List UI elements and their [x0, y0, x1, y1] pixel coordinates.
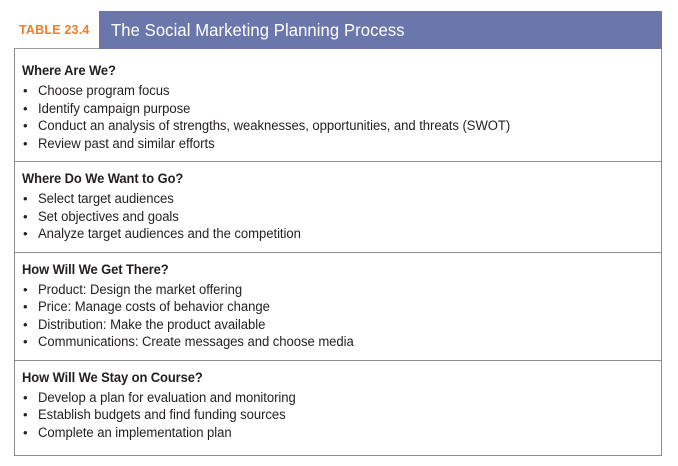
list-item: • Select target audiences: [22, 190, 661, 208]
bullet-list: • Select target audiences • Set objectiv…: [15, 190, 661, 243]
list-item: • Conduct an analysis of strengths, weak…: [22, 117, 661, 135]
table-section: How Will We Stay on Course? • Develop a …: [15, 360, 661, 456]
bullet-icon: •: [22, 208, 38, 226]
list-item-text: Conduct an analysis of strengths, weakne…: [38, 117, 510, 135]
list-item-text: Establish budgets and find funding sourc…: [38, 406, 286, 424]
section-heading: How Will We Get There?: [22, 262, 635, 277]
section-heading: Where Do We Want to Go?: [22, 171, 635, 186]
section-heading: How Will We Stay on Course?: [22, 370, 635, 385]
list-item: • Analyze target audiences and the compe…: [22, 225, 661, 243]
bullet-icon: •: [22, 117, 38, 135]
list-item: • Set objectives and goals: [22, 208, 661, 226]
bullet-icon: •: [22, 135, 38, 153]
bullet-icon: •: [22, 281, 38, 299]
list-item: • Distribution: Make the product availab…: [22, 316, 661, 334]
table-section: Where Do We Want to Go? • Select target …: [15, 161, 661, 252]
list-item-text: Choose program focus: [38, 82, 170, 100]
list-item-text: Set objectives and goals: [38, 208, 179, 226]
list-item-text: Analyze target audiences and the competi…: [38, 225, 301, 243]
section-heading: Where Are We?: [22, 63, 635, 78]
table-section: How Will We Get There? • Product: Design…: [15, 252, 661, 360]
table-figure: TABLE 23.4 The Social Marketing Planning…: [14, 11, 662, 456]
bullet-icon: •: [22, 298, 38, 316]
bullet-icon: •: [22, 190, 38, 208]
bullet-icon: •: [22, 316, 38, 334]
bullet-icon: •: [22, 333, 38, 351]
table-label-cell: TABLE 23.4: [14, 11, 99, 49]
bullet-list: • Product: Design the market offering • …: [15, 281, 661, 351]
bullet-icon: •: [22, 389, 38, 407]
table-title-bar: The Social Marketing Planning Process: [99, 11, 662, 49]
list-item: • Price: Manage costs of behavior change: [22, 298, 661, 316]
list-item-text: Develop a plan for evaluation and monito…: [38, 389, 296, 407]
list-item-text: Product: Design the market offering: [38, 281, 242, 299]
list-item-text: Review past and similar efforts: [38, 135, 215, 153]
table-section: Where Are We? • Choose program focus • I…: [15, 49, 661, 161]
list-item: • Develop a plan for evaluation and moni…: [22, 389, 661, 407]
bullet-icon: •: [22, 424, 38, 442]
list-item: • Product: Design the market offering: [22, 281, 661, 299]
bullet-icon: •: [22, 406, 38, 424]
table-body: Where Are We? • Choose program focus • I…: [14, 49, 662, 456]
bullet-icon: •: [22, 225, 38, 243]
list-item-text: Select target audiences: [38, 190, 174, 208]
list-item-text: Communications: Create messages and choo…: [38, 333, 354, 351]
bullet-list: • Develop a plan for evaluation and moni…: [15, 389, 661, 442]
list-item-text: Distribution: Make the product available: [38, 316, 265, 334]
list-item: • Choose program focus: [22, 82, 661, 100]
list-item-text: Complete an implementation plan: [38, 424, 232, 442]
list-item: • Complete an implementation plan: [22, 424, 661, 442]
table-number-label: TABLE 23.4: [19, 23, 90, 37]
list-item: • Review past and similar efforts: [22, 135, 661, 153]
bullet-icon: •: [22, 100, 38, 118]
list-item-text: Identify campaign purpose: [38, 100, 190, 118]
list-item-text: Price: Manage costs of behavior change: [38, 298, 270, 316]
list-item: • Communications: Create messages and ch…: [22, 333, 661, 351]
bullet-icon: •: [22, 82, 38, 100]
list-item: • Identify campaign purpose: [22, 100, 661, 118]
table-title: The Social Marketing Planning Process: [111, 20, 405, 41]
list-item: • Establish budgets and find funding sou…: [22, 406, 661, 424]
table-header: TABLE 23.4 The Social Marketing Planning…: [14, 11, 662, 49]
bullet-list: • Choose program focus • Identify campai…: [15, 82, 661, 152]
